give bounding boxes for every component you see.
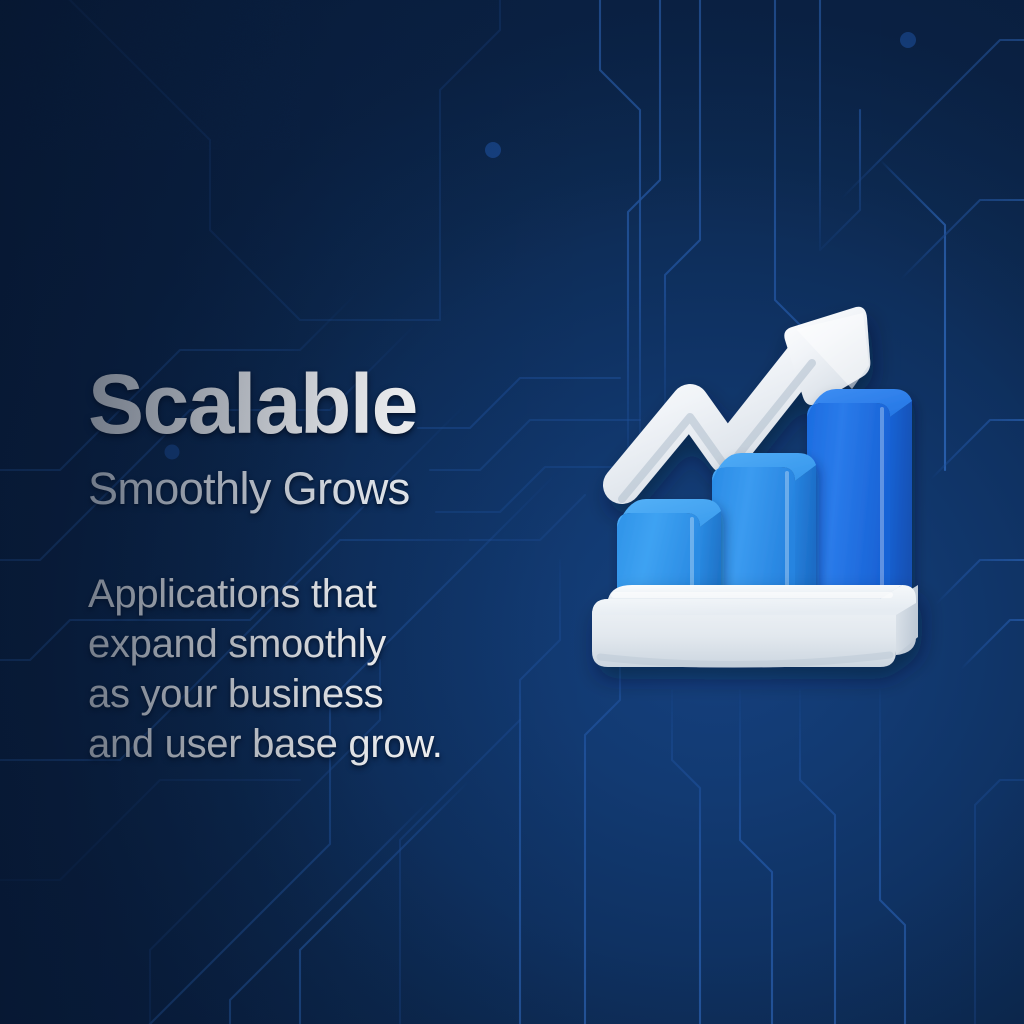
vignette-overlay — [0, 0, 1024, 1024]
slide-canvas: Scalable Smoothly Grows Applications tha… — [0, 0, 1024, 1024]
